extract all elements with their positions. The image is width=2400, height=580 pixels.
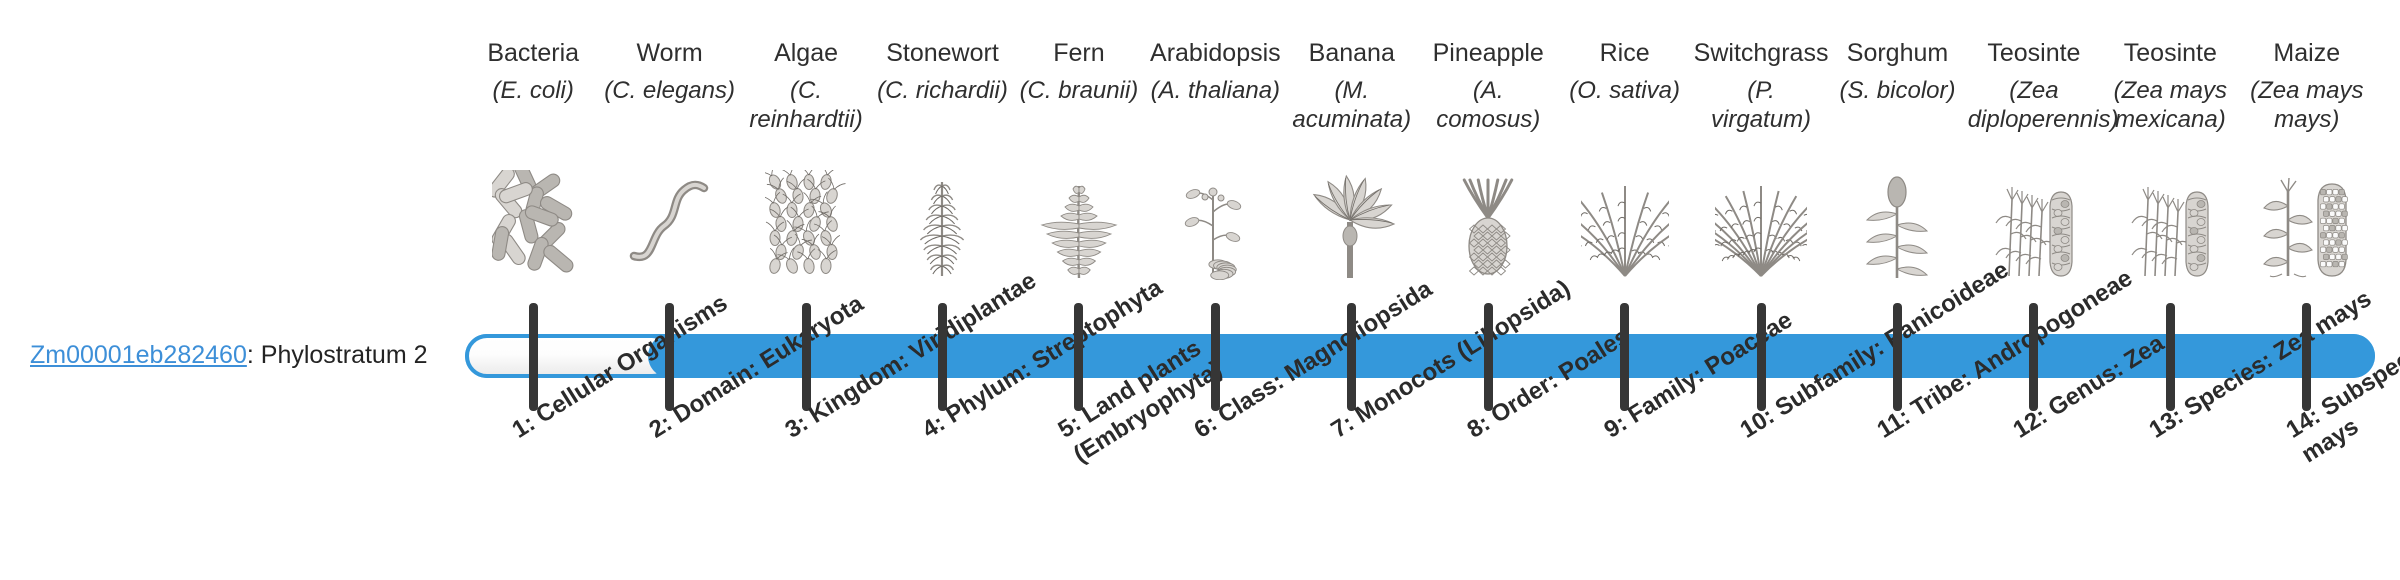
- stratum-number: 9:: [1599, 410, 1631, 444]
- gene-label-separator: :: [247, 341, 261, 369]
- species-column: Algae(C. reinhardtii): [738, 0, 874, 134]
- stratum-number: 12:: [2008, 402, 2052, 443]
- gene-id-link[interactable]: Zm00001eb282460: [30, 341, 247, 369]
- species-column: Switchgrass(P. virgatum): [1693, 0, 1829, 134]
- species-common-name: Maize: [2239, 38, 2375, 68]
- stratum-tick[interactable]: [1484, 303, 1493, 411]
- species-common-name: Rice: [1556, 38, 1692, 68]
- species-common-name: Fern: [1011, 38, 1147, 68]
- species-common-name: Arabidopsis: [1147, 38, 1283, 68]
- species-column: Teosinte(Zea mays mexicana): [2102, 0, 2238, 134]
- species-common-name: Teosinte: [1966, 38, 2102, 68]
- stratum-tick[interactable]: [665, 303, 674, 411]
- species-scientific-name: (S. bicolor): [1829, 76, 1965, 105]
- species-common-name: Algae: [738, 38, 874, 68]
- species-scientific-name: (Zea mays mexicana): [2102, 76, 2238, 134]
- species-scientific-name: (M. acuminata): [1284, 76, 1420, 134]
- species-scientific-name: (C. elegans): [601, 76, 737, 105]
- stratum-tick[interactable]: [1347, 303, 1356, 411]
- stratum-tick[interactable]: [2166, 303, 2175, 411]
- stratum-tick[interactable]: [2302, 303, 2311, 411]
- species-column: Sorghum(S. bicolor): [1829, 0, 1965, 105]
- species-column: Rice(O. sativa): [1556, 0, 1692, 105]
- stratum-tick[interactable]: [1893, 303, 1902, 411]
- species-scientific-name: (O. sativa): [1556, 76, 1692, 105]
- species-common-name: Teosinte: [2102, 38, 2238, 68]
- species-common-name: Stonewort: [874, 38, 1010, 68]
- species-column: Maize(Zea mays mays): [2239, 0, 2375, 134]
- species-column: Fern(C. braunii): [1011, 0, 1147, 105]
- species-common-name: Pineapple: [1420, 38, 1556, 68]
- stratum-number: 13:: [2145, 402, 2189, 443]
- species-column: Pineapple(A. comosus): [1420, 0, 1556, 134]
- species-track: Bacteria(E. coli): [465, 0, 2375, 305]
- species-column: Teosinte(Zea diploperennis): [1966, 0, 2102, 134]
- stratum-tick[interactable]: [1211, 303, 1220, 411]
- species-illustration-worm: [601, 170, 737, 280]
- species-scientific-name: (E. coli): [465, 76, 601, 105]
- stratum-number: 11:: [1872, 403, 1915, 444]
- stratum-tick[interactable]: [1757, 303, 1766, 411]
- species-column: Bacteria(E. coli): [465, 0, 601, 105]
- stratum-tick[interactable]: [938, 303, 947, 411]
- stratum-number: 6:: [1190, 410, 1222, 444]
- gene-phylostratum-value: Phylostratum 2: [261, 341, 428, 369]
- gene-phylostratum-label: Zm00001eb282460: Phylostratum 2: [30, 340, 450, 370]
- species-scientific-name: (C. braunii): [1011, 76, 1147, 105]
- species-scientific-name: (C. richardii): [874, 76, 1010, 105]
- species-common-name: Banana: [1284, 38, 1420, 68]
- species-column: Stonewort(C. richardii): [874, 0, 1010, 105]
- species-scientific-name: (Zea diploperennis): [1966, 76, 2102, 134]
- species-scientific-name: (C. reinhardtii): [738, 76, 874, 134]
- species-scientific-name: (Zea mays mays): [2239, 76, 2375, 134]
- species-column: Arabidopsis(A. thaliana): [1147, 0, 1283, 105]
- species-column: Worm(C. elegans): [601, 0, 737, 105]
- species-common-name: Bacteria: [465, 38, 601, 68]
- species-scientific-name: (P. virgatum): [1693, 76, 1829, 134]
- stratum-number: 10:: [1736, 402, 1780, 443]
- stratum-number: 4:: [917, 410, 949, 444]
- stratum-number: 7:: [1326, 410, 1358, 444]
- stratum-number: 1:: [508, 410, 540, 444]
- species-scientific-name: (A. comosus): [1420, 76, 1556, 134]
- stratum-tick[interactable]: [1620, 303, 1629, 411]
- stratum-tick[interactable]: [529, 303, 538, 411]
- species-scientific-name: (A. thaliana): [1147, 76, 1283, 105]
- stratum-number: 3:: [781, 410, 813, 444]
- stratum-tick[interactable]: [2029, 303, 2038, 411]
- stratum-number: 8:: [1463, 410, 1495, 444]
- species-common-name: Sorghum: [1829, 38, 1965, 68]
- species-illustration-bacteria: [465, 170, 601, 280]
- species-column: Banana(M. acuminata): [1284, 0, 1420, 134]
- species-common-name: Worm: [601, 38, 737, 68]
- phylostratum-figure: Zm00001eb282460: Phylostratum 2 Bacteria…: [0, 0, 2400, 580]
- stratum-tick[interactable]: [1074, 303, 1083, 411]
- stratum-tick[interactable]: [802, 303, 811, 411]
- stratum-number: 2:: [644, 410, 676, 444]
- species-common-name: Switchgrass: [1693, 38, 1829, 68]
